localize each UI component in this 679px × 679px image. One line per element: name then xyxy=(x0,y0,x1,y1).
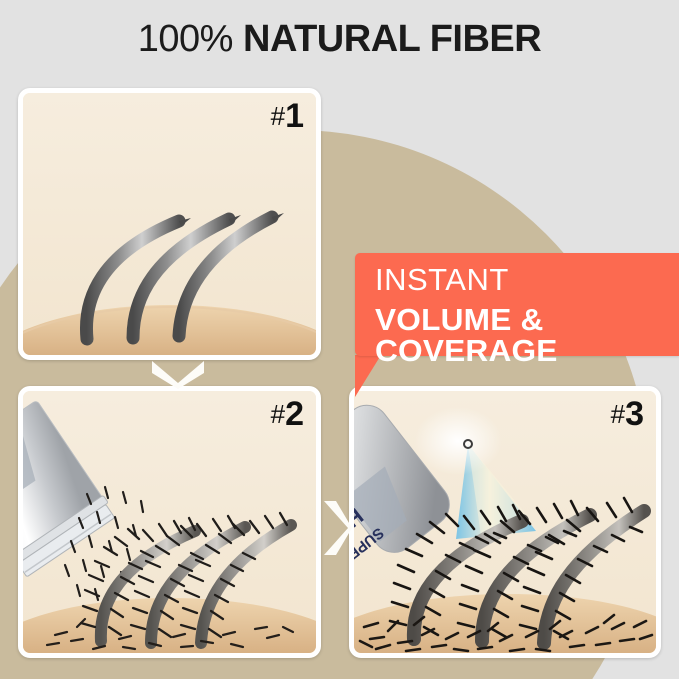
banner-text: INSTANT VOLUME & COVERAGE xyxy=(375,264,679,366)
hash-symbol: # xyxy=(271,399,285,429)
step-number: 2 xyxy=(285,395,304,433)
step-number: 1 xyxy=(285,97,304,135)
title-prefix: 100% xyxy=(138,18,233,60)
step-panel-2: SUPER MILLION SNS xyxy=(18,386,321,658)
panel-1-number: #1 xyxy=(271,97,304,136)
panel-3-number: #3 xyxy=(611,395,644,434)
panel-2-number: #2 xyxy=(271,395,304,434)
step-number: 3 xyxy=(625,395,644,433)
infographic-stage: 100% NATURAL FIBER xyxy=(0,0,679,679)
arrow-down-icon xyxy=(148,357,208,389)
hash-symbol: # xyxy=(611,399,625,429)
hash-symbol: # xyxy=(271,101,285,131)
promo-banner: INSTANT VOLUME & COVERAGE xyxy=(355,253,679,356)
title-main: NATURAL FIBER xyxy=(243,18,541,60)
banner-line-1: INSTANT xyxy=(375,264,679,295)
step-panel-3: SUPER HAIR xyxy=(349,386,661,658)
step-panel-1: #1 xyxy=(18,88,321,360)
banner-line-2: VOLUME & COVERAGE xyxy=(375,304,679,366)
arrow-right-icon xyxy=(320,498,352,560)
page-title: 100% NATURAL FIBER xyxy=(0,18,679,61)
